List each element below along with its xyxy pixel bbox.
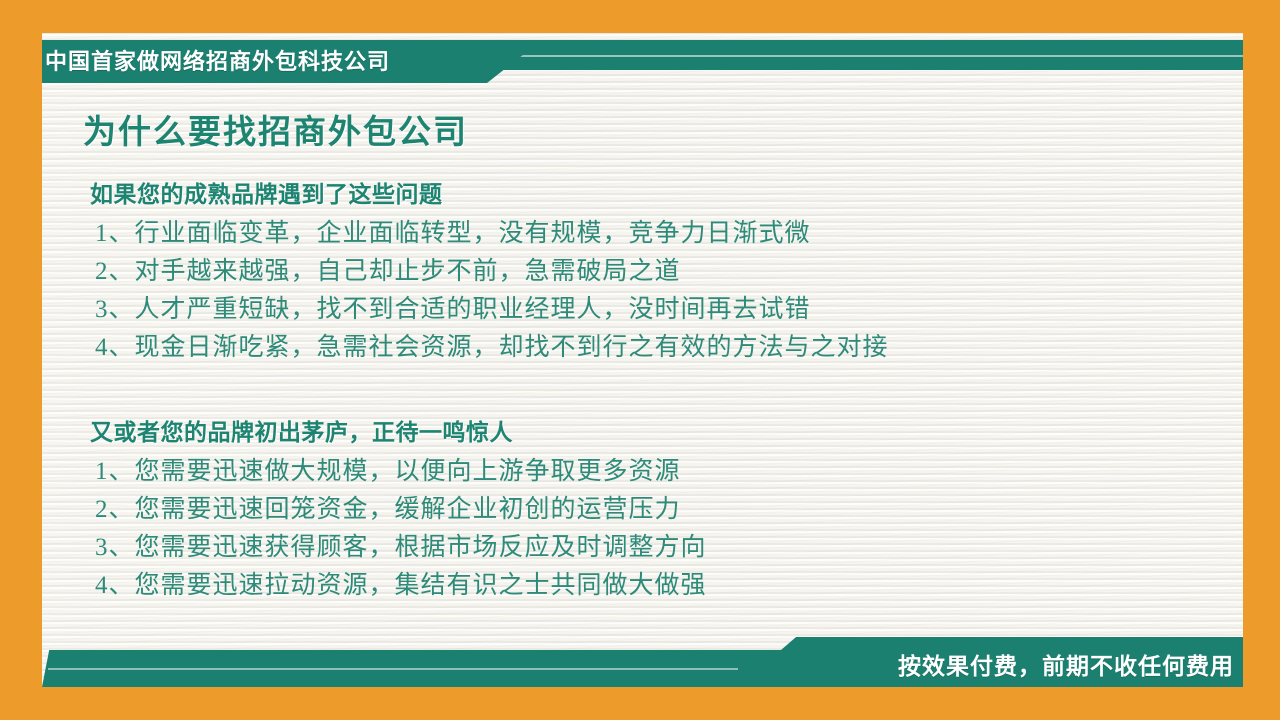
list-item: 1、您需要迅速做大规模，以便向上游争取更多资源 <box>95 453 1225 491</box>
section-new-brand: 又或者您的品牌初出茅庐，正待一鸣惊人 1、您需要迅速做大规模，以便向上游争取更多… <box>75 413 1225 605</box>
list-item: 4、您需要迅速拉动资源，集结有识之士共同做大做强 <box>95 567 1225 605</box>
section-spacer <box>75 375 1225 413</box>
list-item: 2、对手越来越强，自己却止步不前，急需破局之道 <box>95 253 1225 291</box>
footer-band-divider <box>48 668 738 670</box>
header-tagline: 中国首家做网络招商外包科技公司 <box>45 41 390 79</box>
problem-list-2: 1、您需要迅速做大规模，以便向上游争取更多资源 2、您需要迅速回笼资金，缓解企业… <box>75 453 1225 605</box>
page-title: 为什么要找招商外包公司 <box>83 105 1225 153</box>
main-content: 为什么要找招商外包公司 如果您的成熟品牌遇到了这些问题 1、行业面临变革，企业面… <box>75 105 1225 613</box>
list-item: 4、现金日渐吃紧，急需社会资源，却找不到行之有效的方法与之对接 <box>95 329 1225 367</box>
list-item: 2、您需要迅速回笼资金，缓解企业初创的运营压力 <box>95 491 1225 529</box>
list-item: 1、行业面临变革，企业面临转型，没有规模，竞争力日渐式微 <box>95 215 1225 253</box>
section-heading-2: 又或者您的品牌初出茅庐，正待一鸣惊人 <box>90 413 1225 447</box>
section-heading-1: 如果您的成熟品牌遇到了这些问题 <box>90 175 1225 209</box>
list-item: 3、人才严重短缺，找不到合适的职业经理人，没时间再去试错 <box>95 291 1225 329</box>
section-mature-brand: 如果您的成熟品牌遇到了这些问题 1、行业面临变革，企业面临转型，没有规模，竞争力… <box>75 175 1225 367</box>
list-item: 3、您需要迅速获得顾客，根据市场反应及时调整方向 <box>95 529 1225 567</box>
slide-root: 中国首家做网络招商外包科技公司 为什么要找招商外包公司 如果您的成熟品牌遇到了这… <box>0 0 1280 720</box>
footer-note: 按效果付费，前期不收任何费用 <box>898 645 1234 683</box>
problem-list-1: 1、行业面临变革，企业面临转型，没有规模，竞争力日渐式微 2、对手越来越强，自己… <box>75 215 1225 367</box>
